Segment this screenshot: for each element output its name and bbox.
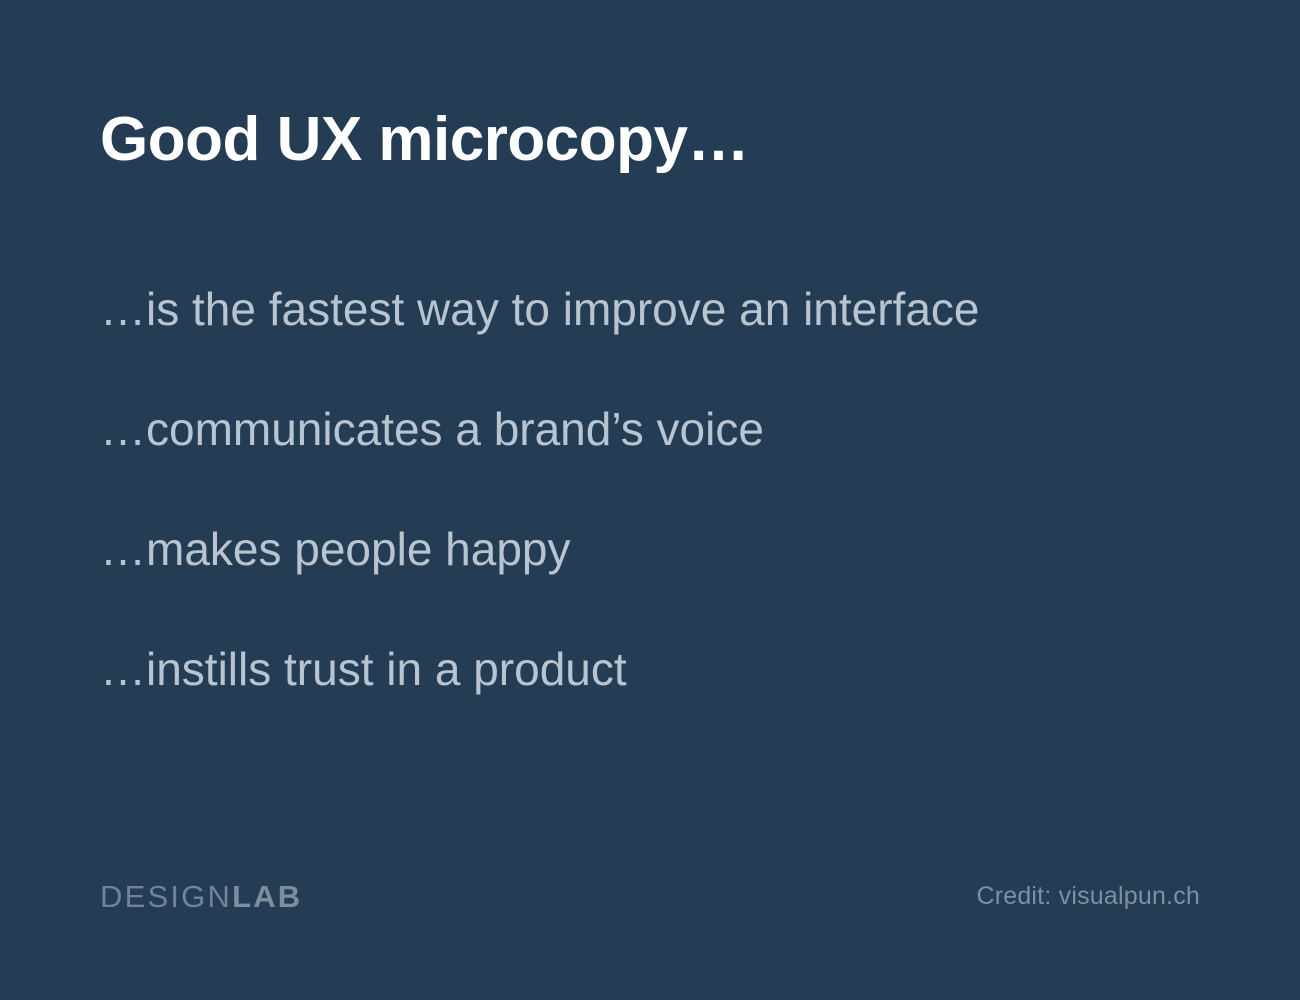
list-item: …instills trust in a product bbox=[100, 646, 1220, 692]
designlab-logo: DESIGNLAB bbox=[100, 881, 302, 912]
slide-canvas: Good UX microcopy… …is the fastest way t… bbox=[0, 0, 1300, 1000]
list-item: …makes people happy bbox=[100, 526, 1220, 572]
slide-footer: DESIGNLAB Credit: visualpun.ch bbox=[0, 876, 1300, 916]
list-item: …communicates a brand’s voice bbox=[100, 406, 1220, 452]
list-item: …is the fastest way to improve an interf… bbox=[100, 286, 1220, 332]
bullet-list: …is the fastest way to improve an interf… bbox=[100, 286, 1220, 692]
credit-text: Credit: visualpun.ch bbox=[976, 884, 1200, 909]
page-title: Good UX microcopy… bbox=[100, 104, 749, 175]
logo-text-lab: LAB bbox=[232, 881, 302, 912]
logo-text-design: DESIGN bbox=[100, 881, 232, 912]
